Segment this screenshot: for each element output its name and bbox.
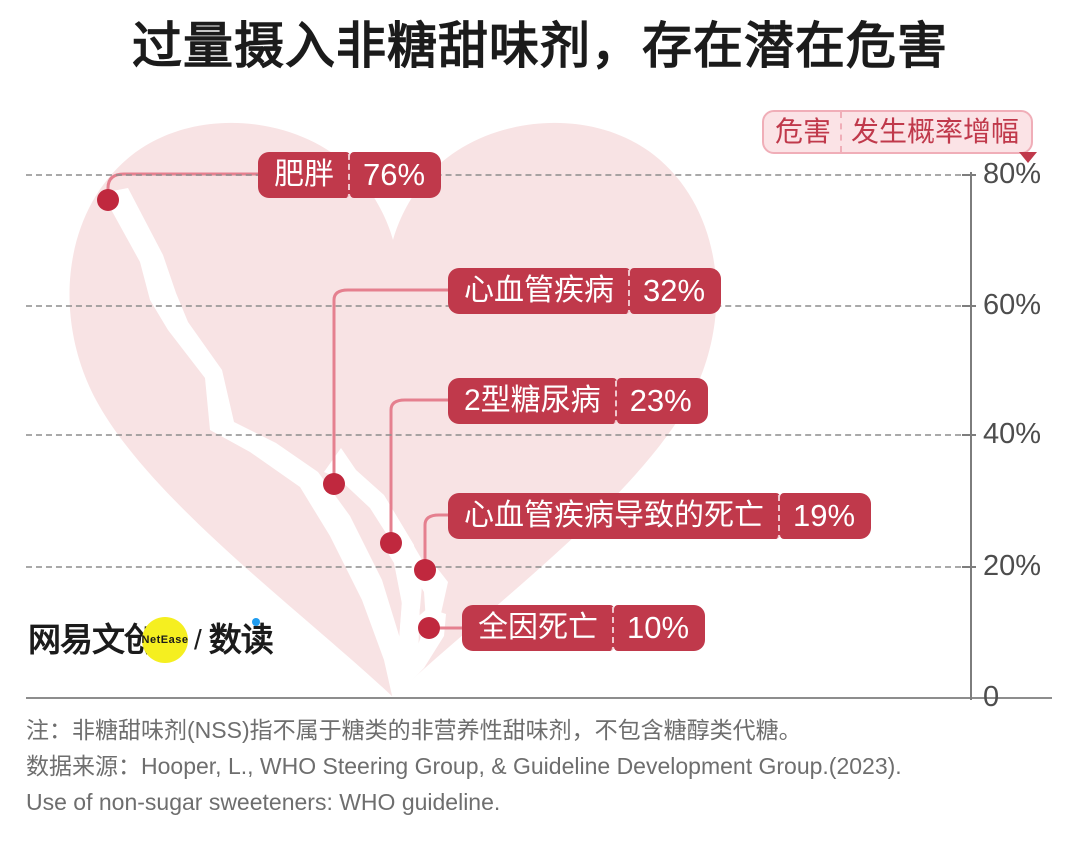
logo-subbrand-text: 数读 xyxy=(209,621,273,659)
gridline-40 xyxy=(26,434,971,436)
data-point-all-cause-death[interactable] xyxy=(418,617,440,639)
leader-line-diabetes xyxy=(391,400,452,543)
legend-pointer-icon xyxy=(1019,152,1037,163)
callout-cardiovascular-death[interactable]: 心血管疾病导致的死亡 19% xyxy=(448,493,871,539)
brand-logo: 网易文创 NetEase / 数读 xyxy=(28,618,273,662)
y-label-40: 40% xyxy=(983,420,1041,449)
y-label-80: 80% xyxy=(983,160,1041,189)
logo-badge-text: NetEase xyxy=(142,634,189,646)
callout-type-2-diabetes-value: 23% xyxy=(617,378,708,424)
data-point-cardiovascular-disease[interactable] xyxy=(323,473,345,495)
callout-cardiovascular-disease-label: 心血管疾病 xyxy=(448,268,630,314)
footnote-source-line1: 数据来源：Hooper, L., WHO Steering Group, & G… xyxy=(26,748,1056,784)
callout-cardiovascular-disease[interactable]: 心血管疾病 32% xyxy=(448,268,721,314)
y-label-60: 60% xyxy=(983,291,1041,320)
y-axis-line xyxy=(970,172,972,700)
callout-cardiovascular-disease-value: 32% xyxy=(630,268,721,314)
netease-badge-icon: NetEase xyxy=(142,617,188,663)
leader-line-cvd xyxy=(334,290,452,484)
leader-line-obesity xyxy=(108,174,262,196)
callout-all-cause-death[interactable]: 全因死亡 10% xyxy=(462,605,705,651)
data-point-obesity[interactable] xyxy=(97,189,119,211)
callout-obesity-value: 76% xyxy=(350,152,441,198)
y-label-20: 20% xyxy=(983,552,1041,581)
infographic-canvas: 过量摄入非糖甜味剂，存在潜在危害 xyxy=(0,0,1080,850)
data-point-cardiovascular-death[interactable] xyxy=(414,559,436,581)
logo-separator: / xyxy=(194,624,202,656)
footnote-source-line2: Use of non-sugar sweeteners: WHO guideli… xyxy=(26,784,1056,820)
callout-obesity[interactable]: 肥胖 76% xyxy=(258,152,441,198)
logo-subbrand-label: 数读 xyxy=(209,621,273,658)
data-point-type-2-diabetes[interactable] xyxy=(380,532,402,554)
y-tick-20 xyxy=(962,566,976,568)
callout-cardiovascular-death-label: 心血管疾病导致的死亡 xyxy=(448,493,780,539)
logo-brand-text: 网易文创 xyxy=(28,621,156,659)
footnotes: 注：非糖甜味剂(NSS)指不属于糖类的非营养性甜味剂，不包含糖醇类代糖。 数据来… xyxy=(26,712,1056,820)
logo-accent-dot-icon xyxy=(252,618,260,626)
legend: 危害 发生概率增幅 xyxy=(762,110,1033,154)
callout-all-cause-death-label: 全因死亡 xyxy=(462,605,614,651)
callout-type-2-diabetes[interactable]: 2型糖尿病 23% xyxy=(448,378,708,424)
gridline-20 xyxy=(26,566,971,568)
y-tick-60 xyxy=(962,305,976,307)
y-tick-40 xyxy=(962,434,976,436)
callout-cardiovascular-death-value: 19% xyxy=(780,493,871,539)
callout-all-cause-death-value: 10% xyxy=(614,605,705,651)
callout-type-2-diabetes-label: 2型糖尿病 xyxy=(448,378,617,424)
y-label-0: 0 xyxy=(983,683,999,712)
legend-value-label: 发生概率增幅 xyxy=(842,112,1031,152)
y-tick-80 xyxy=(962,174,976,176)
axis-baseline xyxy=(26,697,1052,699)
gridline-80 xyxy=(26,174,971,176)
footnote-note: 注：非糖甜味剂(NSS)指不属于糖类的非营养性甜味剂，不包含糖醇类代糖。 xyxy=(26,712,1056,748)
callout-obesity-label: 肥胖 xyxy=(258,152,350,198)
legend-category-label: 危害 xyxy=(764,112,842,152)
